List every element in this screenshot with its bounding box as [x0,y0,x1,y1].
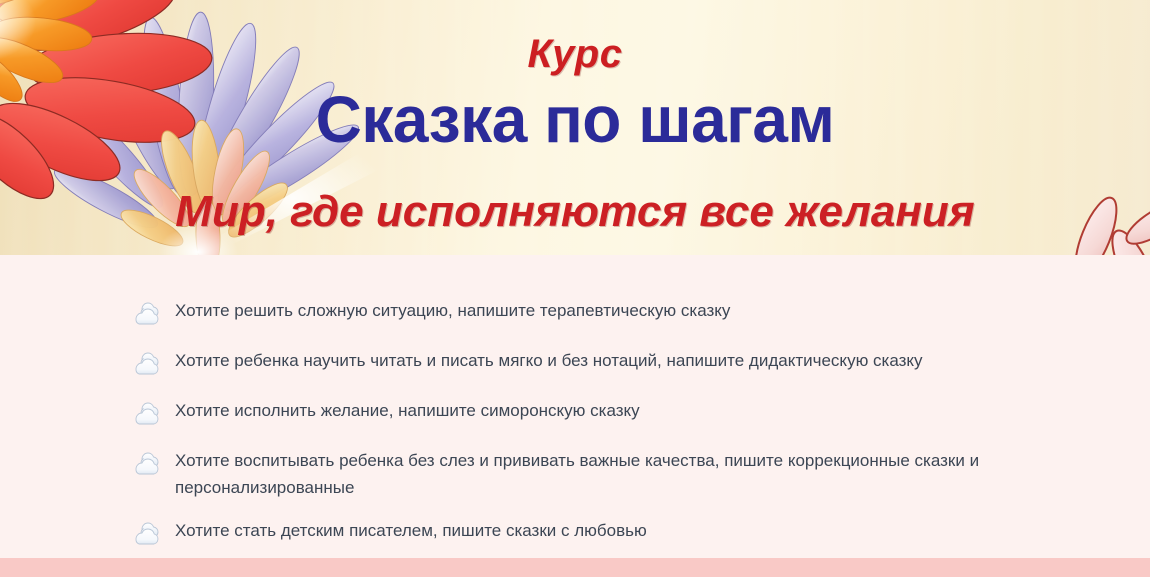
list-item: Хотите воспитывать ребенка без слез и пр… [0,447,1150,501]
banner-subtitle: Мир, где исполняются все желания [0,190,1150,234]
content-area: Хотите решить сложную ситуацию, напишите… [0,255,1150,558]
list-item-label: Хотите решить сложную ситуацию, напишите… [175,297,1005,324]
list-item-label: Хотите стать детским писателем, пишите с… [175,517,1005,544]
banner-text-block: Курс Сказка по шагам Мир, где исполняютс… [0,0,1150,255]
hero-banner: Курс Сказка по шагам Мир, где исполняютс… [0,0,1150,255]
list-item: Хотите исполнить желание, напишите симор… [0,397,1150,431]
list-item-label: Хотите исполнить желание, напишите симор… [175,397,1005,424]
page-title: Сказка по шагам [17,86,1133,152]
list-item: Хотите стать детским писателем, пишите с… [0,517,1150,551]
cloud-icon [130,447,164,477]
footer-accent-strip [0,558,1150,577]
list-item: Хотите решить сложную ситуацию, напишите… [0,297,1150,331]
list-item-label: Хотите ребенка научить читать и писать м… [175,347,1005,374]
list-item: Хотите ребенка научить читать и писать м… [0,347,1150,381]
cloud-icon [130,397,164,427]
benefit-list: Хотите решить сложную ситуацию, напишите… [0,255,1150,551]
cloud-icon [130,347,164,377]
cloud-icon [130,517,164,547]
list-item-label: Хотите воспитывать ребенка без слез и пр… [175,447,1005,501]
page-root: Курс Сказка по шагам Мир, где исполняютс… [0,0,1150,577]
banner-kicker: Курс [0,34,1150,74]
cloud-icon [130,297,164,327]
